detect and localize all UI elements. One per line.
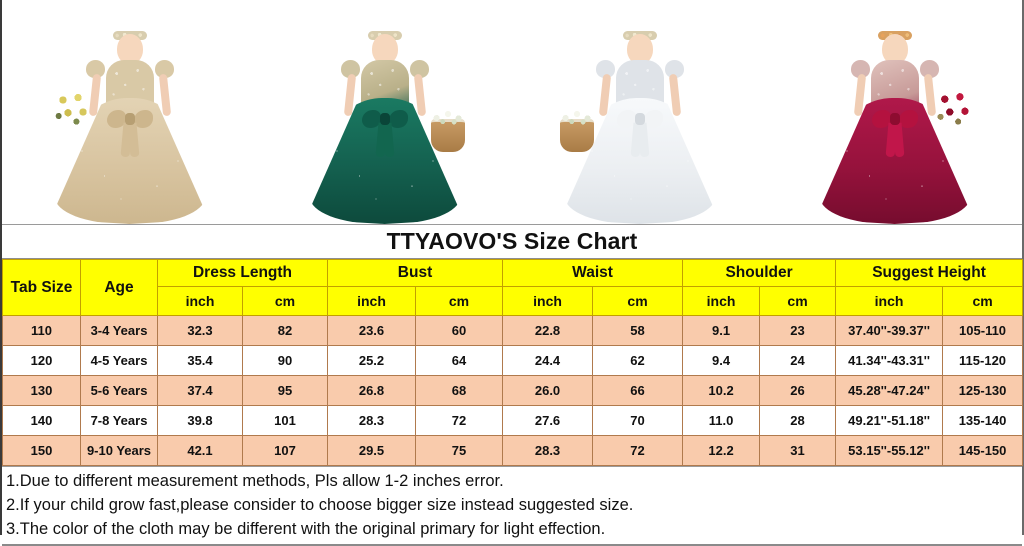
cell-waist-inch: 27.6: [503, 406, 593, 436]
cell-suggest-height-inch: 37.40''-39.37'': [836, 316, 943, 346]
col-header-waist-cm: cm: [593, 287, 683, 316]
cell-dress-length-inch: 37.4: [158, 376, 243, 406]
figure: [50, 16, 210, 224]
col-header-dress-length: Dress Length: [158, 260, 328, 287]
table-row: 130 5-6 Years 37.4 95 26.8 68 26.0 66 10…: [3, 376, 1023, 406]
model-photo-burgundy: [800, 12, 990, 224]
cell-bust-cm: 75: [416, 436, 503, 466]
cell-tab-size: 130: [3, 376, 81, 406]
figure: [815, 16, 975, 224]
col-header-suggest-height: Suggest Height: [836, 260, 1023, 287]
waist-bow: [107, 110, 153, 132]
size-chart-table: Tab Size Age Dress Length Bust Waist Sho…: [2, 259, 1023, 466]
col-header-waist: Waist: [503, 260, 683, 287]
bouquet: [933, 88, 975, 128]
bow-knot: [380, 113, 390, 125]
cell-bust-cm: 68: [416, 376, 503, 406]
cell-shoulder-inch: 9.4: [683, 346, 760, 376]
col-header-tab-size: Tab Size: [3, 260, 81, 316]
flower-basket: [431, 119, 465, 152]
cell-shoulder-cm: 24: [760, 346, 836, 376]
cell-bust-inch: 28.3: [328, 406, 416, 436]
note-size-up: 2.If your child grow fast,please conside…: [6, 493, 1018, 517]
cell-dress-length-inch: 42.1: [158, 436, 243, 466]
table-body: 110 3-4 Years 32.3 82 23.6 60 22.8 58 9.…: [3, 316, 1023, 466]
cell-suggest-height-inch: 49.21''-51.18'': [836, 406, 943, 436]
table-header-group-row: Tab Size Age Dress Length Bust Waist Sho…: [3, 260, 1023, 287]
cell-suggest-height-cm: 145-150: [943, 436, 1023, 466]
cell-bust-cm: 60: [416, 316, 503, 346]
waist-bow: [617, 110, 663, 132]
cell-suggest-height-cm: 135-140: [943, 406, 1023, 436]
size-chart-page: TTYAOVO'S Size Chart Tab Size Age Dress …: [0, 0, 1024, 535]
col-header-bust: Bust: [328, 260, 503, 287]
cell-shoulder-inch: 11.0: [683, 406, 760, 436]
col-header-bust-inch: inch: [328, 287, 416, 316]
cell-bust-inch: 29.5: [328, 436, 416, 466]
cell-suggest-height-inch: 41.34''-43.31'': [836, 346, 943, 376]
col-header-shoulder-cm: cm: [760, 287, 836, 316]
bouquet: [52, 88, 94, 128]
cell-tab-size: 150: [3, 436, 81, 466]
cell-shoulder-cm: 28: [760, 406, 836, 436]
cell-waist-cm: 58: [593, 316, 683, 346]
cell-age: 3-4 Years: [81, 316, 158, 346]
cell-age: 5-6 Years: [81, 376, 158, 406]
product-photo-strip: [2, 0, 1022, 225]
bow-knot: [125, 113, 135, 125]
col-header-suggest-height-inch: inch: [836, 287, 943, 316]
cell-waist-inch: 28.3: [503, 436, 593, 466]
cell-dress-length-cm: 95: [243, 376, 328, 406]
page-title: TTYAOVO'S Size Chart: [387, 228, 638, 255]
col-header-bust-cm: cm: [416, 287, 503, 316]
table-head: Tab Size Age Dress Length Bust Waist Sho…: [3, 260, 1023, 316]
bow-knot: [890, 113, 900, 125]
col-header-shoulder-inch: inch: [683, 287, 760, 316]
cell-bust-inch: 23.6: [328, 316, 416, 346]
cell-waist-inch: 22.8: [503, 316, 593, 346]
cell-waist-cm: 66: [593, 376, 683, 406]
cell-age: 9-10 Years: [81, 436, 158, 466]
cell-waist-cm: 70: [593, 406, 683, 436]
cell-shoulder-cm: 26: [760, 376, 836, 406]
cell-dress-length-inch: 32.3: [158, 316, 243, 346]
figure: [560, 16, 720, 224]
model-photo-emerald: [290, 12, 480, 224]
col-header-waist-inch: inch: [503, 287, 593, 316]
cell-dress-length-inch: 39.8: [158, 406, 243, 436]
cell-bust-cm: 64: [416, 346, 503, 376]
col-header-shoulder: Shoulder: [683, 260, 836, 287]
cell-dress-length-cm: 82: [243, 316, 328, 346]
note-measurement-error: 1.Due to different measurement methods, …: [6, 469, 1018, 493]
cell-shoulder-inch: 9.1: [683, 316, 760, 346]
cell-dress-length-cm: 107: [243, 436, 328, 466]
cell-shoulder-inch: 10.2: [683, 376, 760, 406]
cell-suggest-height-inch: 53.15''-55.12'': [836, 436, 943, 466]
table-row: 110 3-4 Years 32.3 82 23.6 60 22.8 58 9.…: [3, 316, 1023, 346]
cell-bust-inch: 26.8: [328, 376, 416, 406]
cell-waist-inch: 24.4: [503, 346, 593, 376]
waist-bow: [872, 110, 918, 132]
cell-shoulder-cm: 31: [760, 436, 836, 466]
cell-tab-size: 120: [3, 346, 81, 376]
col-header-dress-length-inch: inch: [158, 287, 243, 316]
cell-bust-cm: 72: [416, 406, 503, 436]
cell-suggest-height-cm: 115-120: [943, 346, 1023, 376]
col-header-dress-length-cm: cm: [243, 287, 328, 316]
cell-shoulder-inch: 12.2: [683, 436, 760, 466]
model-photo-champagne: [35, 12, 225, 224]
cell-waist-inch: 26.0: [503, 376, 593, 406]
note-color-variance: 3.The color of the cloth may be differen…: [6, 517, 1018, 541]
col-header-suggest-height-cm: cm: [943, 287, 1023, 316]
chart-title-band: TTYAOVO'S Size Chart: [2, 225, 1022, 259]
table-row: 120 4-5 Years 35.4 90 25.2 64 24.4 62 9.…: [3, 346, 1023, 376]
col-header-age: Age: [81, 260, 158, 316]
cell-age: 4-5 Years: [81, 346, 158, 376]
cell-tab-size: 110: [3, 316, 81, 346]
cell-bust-inch: 25.2: [328, 346, 416, 376]
flower-basket: [560, 119, 594, 152]
bow-knot: [635, 113, 645, 125]
cell-suggest-height-cm: 125-130: [943, 376, 1023, 406]
notes-section: 1.Due to different measurement methods, …: [2, 466, 1022, 546]
cell-waist-cm: 72: [593, 436, 683, 466]
cell-shoulder-cm: 23: [760, 316, 836, 346]
cell-dress-length-cm: 101: [243, 406, 328, 436]
cell-age: 7-8 Years: [81, 406, 158, 436]
waist-bow: [362, 110, 408, 132]
table-row: 140 7-8 Years 39.8 101 28.3 72 27.6 70 1…: [3, 406, 1023, 436]
cell-suggest-height-cm: 105-110: [943, 316, 1023, 346]
table-row: 150 9-10 Years 42.1 107 29.5 75 28.3 72 …: [3, 436, 1023, 466]
cell-tab-size: 140: [3, 406, 81, 436]
cell-dress-length-cm: 90: [243, 346, 328, 376]
figure: [305, 16, 465, 224]
model-photo-white: [545, 12, 735, 224]
cell-dress-length-inch: 35.4: [158, 346, 243, 376]
cell-waist-cm: 62: [593, 346, 683, 376]
cell-suggest-height-inch: 45.28''-47.24'': [836, 376, 943, 406]
